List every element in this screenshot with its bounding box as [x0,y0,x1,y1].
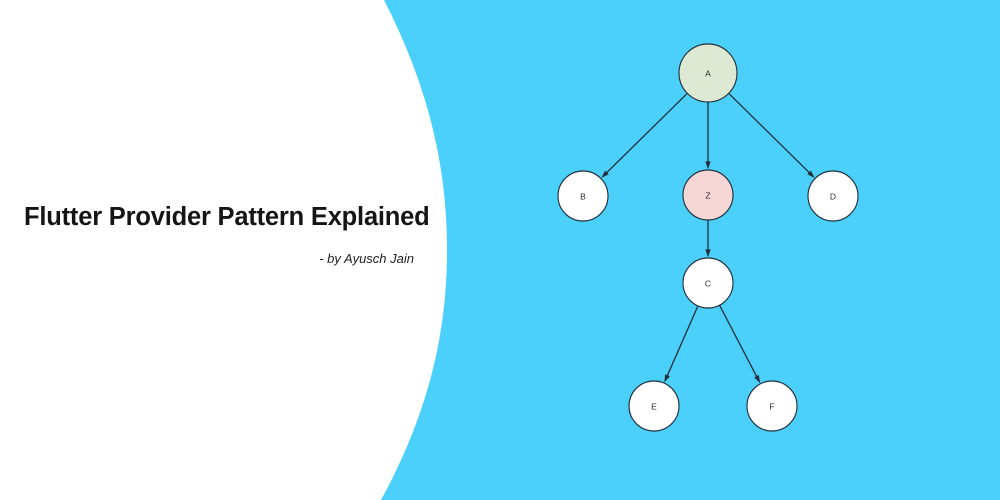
diagram-edges [601,93,815,383]
node-circle-e[interactable] [629,381,679,431]
widget-tree-diagram: ABZDCEF [0,0,1000,500]
node-circle-c[interactable] [683,258,733,308]
node-circle-f[interactable] [747,381,797,431]
arrowhead-c-to-f [754,375,760,383]
arrowhead-a-to-z [705,161,710,169]
node-c[interactable]: C [683,258,733,308]
node-circle-z[interactable] [683,170,733,220]
arrowhead-z-to-c [705,249,710,257]
arrowhead-c-to-e [664,374,670,382]
node-e[interactable]: E [629,381,679,431]
node-z[interactable]: Z [683,170,733,220]
node-circle-a[interactable] [679,44,737,102]
edge-a-to-b [606,93,688,173]
edge-c-to-f [720,305,758,378]
node-d[interactable]: D [808,171,858,221]
slide-canvas: Flutter Provider Pattern Explained - by … [0,0,1000,500]
node-circle-b[interactable] [558,171,608,221]
node-circle-d[interactable] [808,171,858,221]
node-f[interactable]: F [747,381,797,431]
node-a[interactable]: A [679,44,737,102]
node-b[interactable]: B [558,171,608,221]
edge-a-to-d [729,93,811,173]
edge-c-to-e [667,306,698,377]
